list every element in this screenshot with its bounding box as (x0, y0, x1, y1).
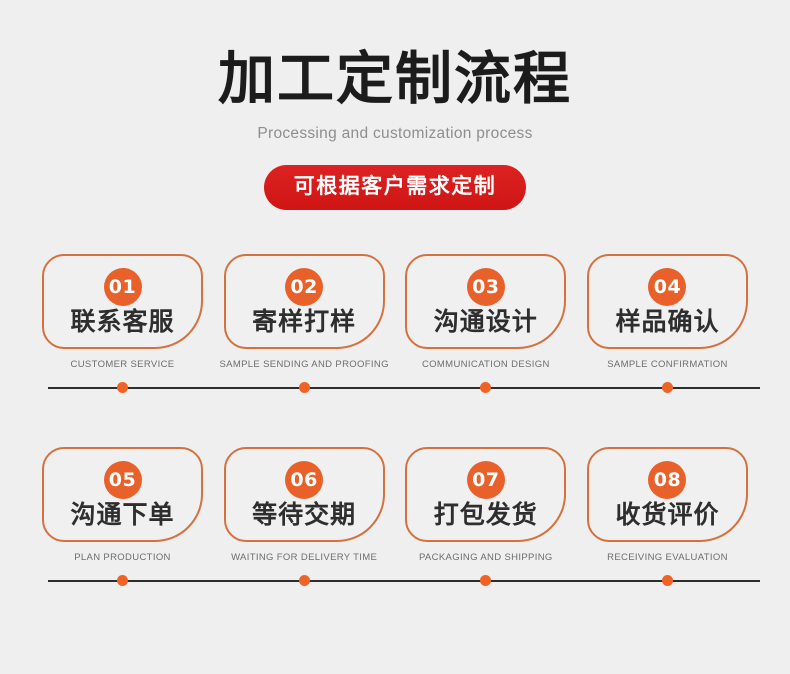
badge-container: 可根据客户需求定制 (0, 165, 790, 210)
step-number-badge: 02 (285, 268, 323, 306)
timeline-dot-slot (405, 574, 566, 586)
step-title-cn: 沟通下单 (70, 501, 174, 530)
step-title-cn: 寄样打样 (252, 308, 356, 337)
step-title-en: RECEIVING EVALUATION (607, 552, 728, 563)
step-title-en: CUSTOMER SERVICE (71, 359, 175, 370)
step-number-badge: 01 (104, 268, 142, 306)
process-rows: 01 联系客服 CUSTOMER SERVICE 02 寄样打样 SAMPLE … (0, 254, 790, 588)
timeline-dot-icon (299, 575, 310, 586)
process-cards-row-2: 05 沟通下单 PLAN PRODUCTION 06 等待交期 WAITING … (0, 447, 790, 563)
step-number-badge: 03 (467, 268, 505, 306)
step-card[interactable]: 03 沟通设计 (405, 254, 566, 349)
timeline-dot-slot (224, 574, 385, 586)
process-step-07[interactable]: 07 打包发货 PACKAGING AND SHIPPING (405, 447, 566, 563)
timeline-row-1 (0, 381, 790, 395)
step-title-en: PLAN PRODUCTION (74, 552, 171, 563)
step-number-badge: 05 (104, 461, 142, 499)
timeline-dots (0, 574, 790, 586)
process-step-06[interactable]: 06 等待交期 WAITING FOR DELIVERY TIME (224, 447, 385, 563)
timeline-row-2 (0, 574, 790, 588)
step-title-cn: 沟通设计 (434, 308, 538, 337)
page-header: 加工定制流程 Processing and customization proc… (0, 0, 790, 210)
timeline-dot-icon (117, 575, 128, 586)
timeline-dot-icon (117, 382, 128, 393)
timeline-dot-icon (480, 382, 491, 393)
step-card[interactable]: 01 联系客服 (42, 254, 203, 349)
step-card[interactable]: 05 沟通下单 (42, 447, 203, 542)
page-subtitle: Processing and customization process (0, 125, 790, 143)
timeline-dot-slot (42, 381, 203, 393)
step-title-cn: 联系客服 (70, 308, 174, 337)
step-title-en: SAMPLE SENDING AND PROOFING (219, 359, 388, 370)
step-title-cn: 打包发货 (434, 501, 538, 530)
timeline-dot-icon (662, 575, 673, 586)
timeline-dot-icon (480, 575, 491, 586)
process-step-05[interactable]: 05 沟通下单 PLAN PRODUCTION (42, 447, 203, 563)
process-step-02[interactable]: 02 寄样打样 SAMPLE SENDING AND PROOFING (224, 254, 385, 370)
process-row-1: 01 联系客服 CUSTOMER SERVICE 02 寄样打样 SAMPLE … (0, 254, 790, 395)
process-flow-page: 加工定制流程 Processing and customization proc… (0, 0, 790, 674)
page-title: 加工定制流程 (0, 46, 790, 113)
step-card[interactable]: 07 打包发货 (405, 447, 566, 542)
timeline-dot-slot (42, 574, 203, 586)
step-title-en: PACKAGING AND SHIPPING (419, 552, 553, 563)
timeline-dot-slot (405, 381, 566, 393)
step-card[interactable]: 02 寄样打样 (224, 254, 385, 349)
timeline-dot-slot (587, 381, 748, 393)
step-card[interactable]: 06 等待交期 (224, 447, 385, 542)
timeline-dots (0, 381, 790, 393)
step-number-badge: 08 (648, 461, 686, 499)
step-title-cn: 样品确认 (615, 308, 719, 337)
process-cards-row-1: 01 联系客服 CUSTOMER SERVICE 02 寄样打样 SAMPLE … (0, 254, 790, 370)
timeline-dot-icon (662, 382, 673, 393)
step-title-en: SAMPLE CONFIRMATION (607, 359, 727, 370)
process-step-01[interactable]: 01 联系客服 CUSTOMER SERVICE (42, 254, 203, 370)
custom-made-badge: 可根据客户需求定制 (264, 165, 527, 210)
process-row-2: 05 沟通下单 PLAN PRODUCTION 06 等待交期 WAITING … (0, 447, 790, 588)
process-step-03[interactable]: 03 沟通设计 COMMUNICATION DESIGN (405, 254, 566, 370)
timeline-dot-slot (224, 381, 385, 393)
step-title-cn: 收货评价 (615, 501, 719, 530)
process-step-08[interactable]: 08 收货评价 RECEIVING EVALUATION (587, 447, 748, 563)
step-title-cn: 等待交期 (252, 501, 356, 530)
process-step-04[interactable]: 04 样品确认 SAMPLE CONFIRMATION (587, 254, 748, 370)
timeline-dot-icon (299, 382, 310, 393)
step-number-badge: 06 (285, 461, 323, 499)
step-number-badge: 04 (648, 268, 686, 306)
step-card[interactable]: 04 样品确认 (587, 254, 748, 349)
step-title-en: COMMUNICATION DESIGN (422, 359, 550, 370)
step-card[interactable]: 08 收货评价 (587, 447, 748, 542)
step-title-en: WAITING FOR DELIVERY TIME (231, 552, 377, 563)
timeline-dot-slot (587, 574, 748, 586)
step-number-badge: 07 (467, 461, 505, 499)
